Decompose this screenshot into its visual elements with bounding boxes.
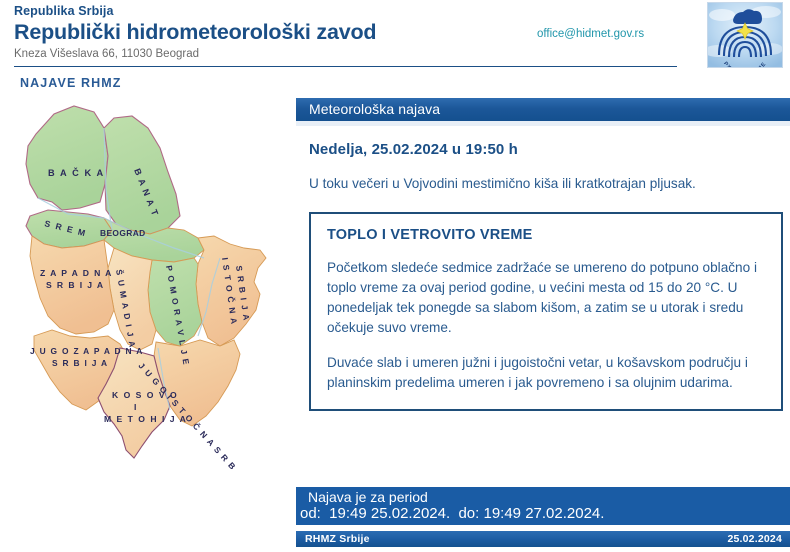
- map-region-backa: [26, 106, 108, 210]
- page-title: NAJAVE RHMZ: [20, 76, 121, 90]
- status-bar: RHMZ Srbije 25.02.2024: [296, 531, 790, 547]
- serbia-regions-map: B A Č K A B A N A T S R E M BEOGRAD Z A …: [8, 98, 290, 470]
- status-bar-date: 25.02.2024: [727, 532, 782, 547]
- map-label-kosovo-3: M E T O H I J A: [104, 414, 187, 424]
- warning-paragraph-2: Duvaće slab i umeren južni i jugoistočni…: [327, 353, 765, 393]
- map-label-zapadna-1: Z A P A D N A: [40, 268, 113, 278]
- map-label-beograd: BEOGRAD: [100, 228, 146, 238]
- panel-body: Nedelja, 25.02.2024 u 19:50 h U toku več…: [296, 126, 790, 411]
- map-label-backa: B A Č K A: [48, 167, 105, 178]
- header-text-block: Republika Srbija Republički hidrometeoro…: [14, 4, 376, 61]
- warning-box: TOPLO I VETROVITO VREME Početkom sledeće…: [309, 212, 783, 411]
- panel-banner-title: Meteorološka najava: [296, 98, 790, 121]
- warning-paragraph-1: Početkom sledeće sedmice zadržaće se ume…: [327, 258, 765, 338]
- warning-title: TOPLO I VETROVITO VREME: [327, 227, 765, 243]
- country-name: Republika Srbija: [14, 4, 376, 18]
- map-label-zapadna-2: S R B I J A: [46, 280, 105, 290]
- contact-email-link[interactable]: office@hidmet.gov.rs: [537, 28, 644, 40]
- institute-name: Republički hidrometeorološki zavod: [14, 19, 376, 45]
- map-label-kosovo-1: K O S O V O: [112, 390, 178, 400]
- header-divider: [14, 66, 677, 67]
- forecast-panel: Meteorološka najava Nedelja, 25.02.2024 …: [296, 98, 790, 411]
- issue-datetime: Nedelja, 25.02.2024 u 19:50 h: [309, 141, 778, 158]
- validity-period-range: od: 19:49 25.02.2024. do: 19:49 27.02.20…: [300, 504, 604, 523]
- map-label-jugozapadna-2: S R B I J A: [52, 358, 108, 368]
- map-label-jugozapadna-1: J U G O Z A P A D N A: [30, 346, 144, 356]
- map-label-kosovo-2: I: [134, 402, 138, 412]
- page-header: Republika Srbija Republički hidrometeoro…: [0, 0, 790, 74]
- rhmz-logo: РХМЗ СРБИЈЕ: [707, 2, 783, 68]
- status-bar-source: RHMZ Srbije: [305, 532, 370, 547]
- institute-address: Kneza Višeslava 66, 11030 Beograd: [14, 47, 376, 61]
- lead-forecast-text: U toku večeri u Vojvodini mestimično kiš…: [309, 174, 769, 194]
- validity-period-box: Najava je za period od: 19:49 25.02.2024…: [296, 487, 790, 525]
